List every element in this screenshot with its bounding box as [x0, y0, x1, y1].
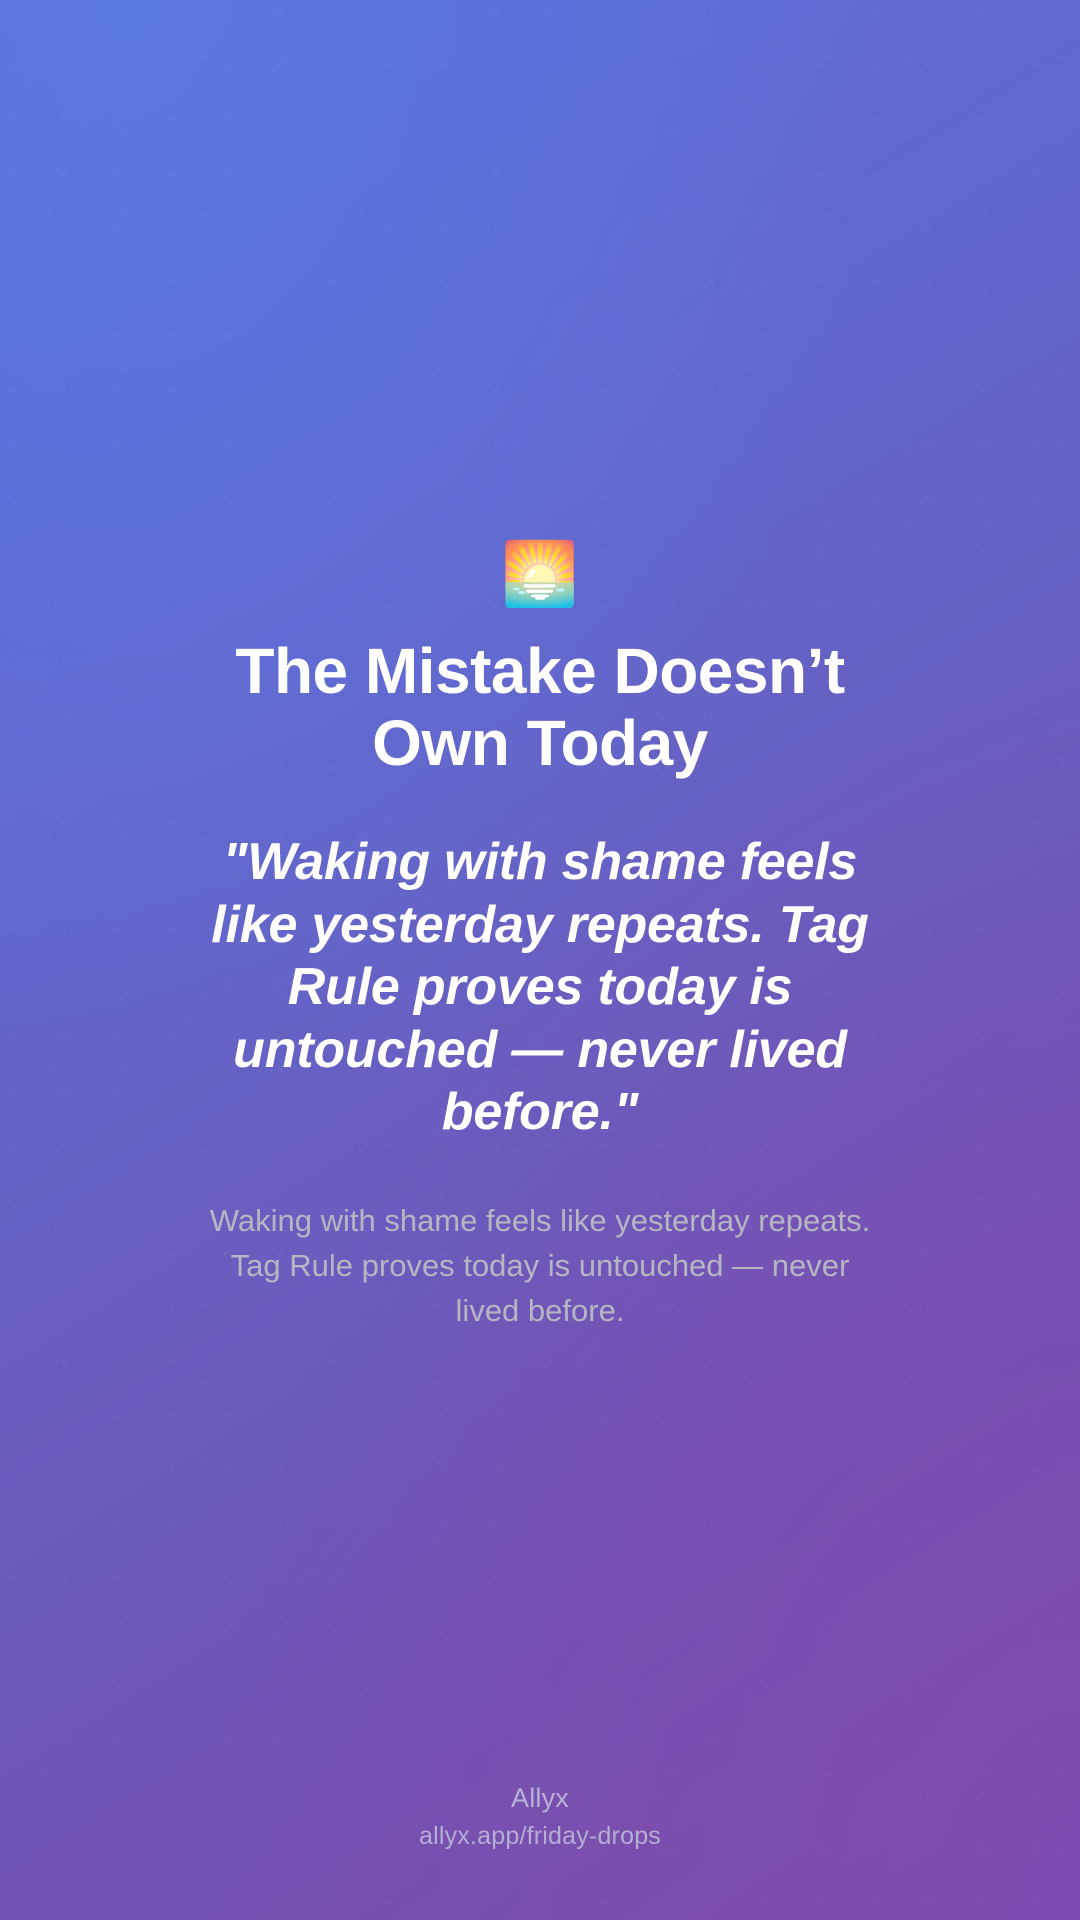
- brand-name: Allyx: [511, 1782, 569, 1816]
- body-paragraph: Waking with shame feels like yesterday r…: [200, 1199, 880, 1334]
- poster-footer: Allyx allyx.app/friday-drops: [0, 1782, 1080, 1852]
- footer-url: allyx.app/friday-drops: [419, 1821, 661, 1852]
- pull-quote: "Waking with shame feels like yesterday …: [180, 831, 900, 1143]
- social-quote-poster: 🌅 The Mistake Doesn’t Own Today "Waking …: [0, 0, 1080, 1920]
- poster-content: 🌅 The Mistake Doesn’t Own Today "Waking …: [0, 538, 1080, 1334]
- page-title: The Mistake Doesn’t Own Today: [160, 636, 920, 779]
- poster-stage: 🌅 The Mistake Doesn’t Own Today "Waking …: [0, 0, 1080, 1920]
- sunrise-emoji: 🌅: [501, 538, 578, 610]
